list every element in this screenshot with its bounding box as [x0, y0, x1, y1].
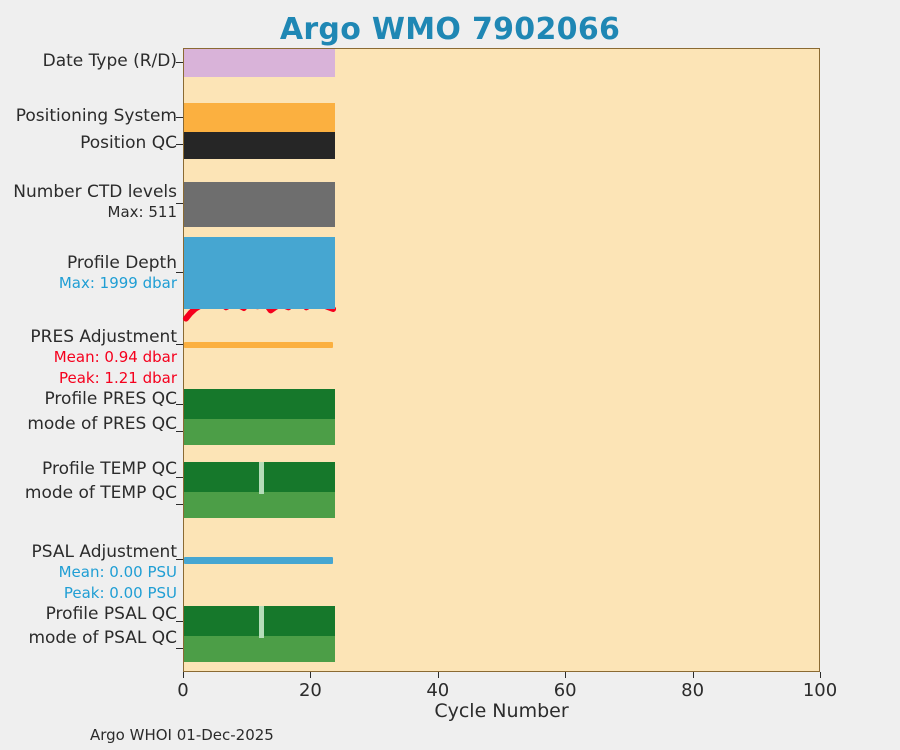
x-tick [565, 672, 566, 678]
y-tick [176, 117, 183, 118]
y-label-mode-of-temp-qc: mode of TEMP QC [25, 485, 177, 502]
y-tick [176, 431, 183, 432]
bar-number-ctd-levels [184, 182, 335, 227]
y-tick [176, 203, 183, 204]
qc-gap-marker [259, 462, 264, 494]
bar-pres-adjustment [184, 342, 333, 348]
y-tick [176, 559, 183, 560]
y-tick [176, 144, 183, 145]
bar-positioning-system [184, 103, 335, 133]
x-tick-label: 80 [681, 680, 704, 701]
bar-profile-pres-qc [184, 389, 335, 421]
x-tick-label: 60 [554, 680, 577, 701]
bar-date-type-r-d [184, 49, 335, 77]
y-tick [176, 504, 183, 505]
y-tick [176, 477, 183, 478]
bar-profile-depth [184, 237, 335, 309]
y-annotation: Peak: 0.00 PSU [64, 586, 177, 601]
bar-mode-of-pres-qc [184, 419, 335, 445]
bar-mode-of-temp-qc [184, 492, 335, 518]
y-tick [176, 272, 183, 273]
y-label-psal-adjustment: PSAL Adjustment [32, 544, 177, 561]
page-title: Argo WMO 7902066 [0, 12, 900, 47]
qc-gap-marker [259, 606, 264, 638]
x-tick-label: 20 [299, 680, 322, 701]
y-label-pres-adjustment: PRES Adjustment [30, 329, 177, 346]
y-label-profile-psal-qc: Profile PSAL QC [46, 606, 177, 623]
x-tick [183, 672, 184, 678]
y-annotation: Peak: 1.21 dbar [59, 371, 177, 386]
y-label-profile-depth: Profile Depth [67, 255, 177, 272]
y-annotation: Mean: 0.00 PSU [59, 565, 177, 580]
x-tick [820, 672, 821, 678]
x-tick [438, 672, 439, 678]
y-annotation: Mean: 0.94 dbar [54, 350, 177, 365]
footer-credit: Argo WHOI 01-Dec-2025 [90, 726, 274, 744]
y-tick [176, 404, 183, 405]
y-label-mode-of-pres-qc: mode of PRES QC [27, 416, 177, 433]
y-annotation: Max: 1999 dbar [59, 276, 177, 291]
y-annotation: Max: 511 [108, 205, 177, 220]
x-tick-label: 0 [177, 680, 188, 701]
y-label-position-qc: Position QC [80, 135, 177, 152]
bar-position-qc [184, 132, 335, 159]
y-label-mode-of-psal-qc: mode of PSAL QC [28, 630, 177, 647]
x-tick-label: 40 [426, 680, 449, 701]
x-tick [693, 672, 694, 678]
x-axis-title: Cycle Number [183, 700, 820, 722]
y-tick [176, 62, 183, 63]
bar-mode-of-psal-qc [184, 636, 335, 662]
bar-psal-adjustment [184, 557, 333, 564]
x-tick [310, 672, 311, 678]
y-label-profile-pres-qc: Profile PRES QC [44, 391, 177, 408]
y-tick [176, 344, 183, 345]
y-tick [176, 621, 183, 622]
plot-area [183, 48, 820, 672]
y-tick [176, 648, 183, 649]
y-label-profile-temp-qc: Profile TEMP QC [42, 461, 177, 478]
x-tick-label: 100 [803, 680, 837, 701]
y-label-date-type-r-d: Date Type (R/D) [43, 53, 177, 70]
y-label-positioning-system: Positioning System [16, 108, 177, 125]
y-label-number-ctd-levels: Number CTD levels [13, 184, 177, 201]
